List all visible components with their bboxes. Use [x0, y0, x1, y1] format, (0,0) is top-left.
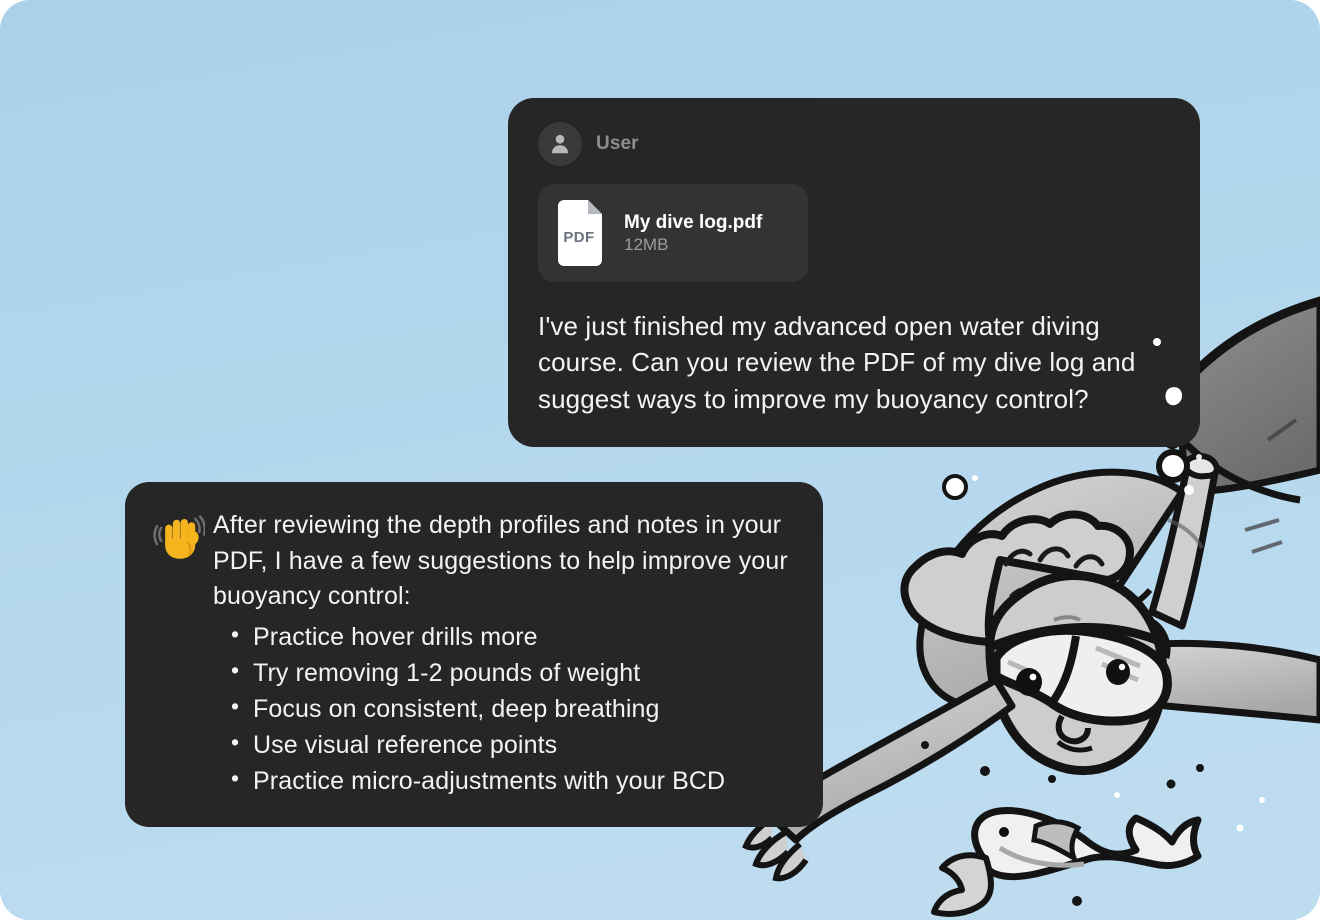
- pdf-attachment-card[interactable]: PDF My dive log.pdf 12MB: [538, 184, 808, 282]
- list-item: Try removing 1-2 pounds of weight: [213, 655, 793, 691]
- air-bubbles: [921, 378, 1265, 906]
- user-message-text: I've just finished my advanced open wate…: [538, 308, 1170, 417]
- user-message-bubble: User PDF My dive log.pdf 12MB I've just …: [508, 98, 1200, 447]
- attachment-file-name: My dive log.pdf: [624, 212, 762, 233]
- svg-text:PDF: PDF: [563, 229, 594, 246]
- attachment-file-size: 12MB: [624, 235, 668, 254]
- user-header: User: [538, 122, 1170, 166]
- person-avatar-icon: [538, 122, 582, 166]
- list-item: Practice micro-adjustments with your BCD: [213, 763, 793, 799]
- pdf-file-icon: PDF: [554, 200, 606, 266]
- list-item: Focus on consistent, deep breathing: [213, 691, 793, 727]
- assistant-suggestion-list: Practice hover drills more Try removing …: [213, 619, 793, 799]
- attachment-meta: My dive log.pdf 12MB: [624, 211, 786, 256]
- assistant-message-bubble: After reviewing the depth profiles and n…: [125, 482, 823, 827]
- page-canvas: User PDF My dive log.pdf 12MB I've just …: [0, 0, 1320, 920]
- fish-figure: [934, 811, 1198, 914]
- waving-hand-emoji: [153, 510, 209, 562]
- user-name-label: User: [596, 133, 639, 155]
- list-item: Practice hover drills more: [213, 619, 793, 655]
- list-item: Use visual reference points: [213, 727, 793, 763]
- assistant-intro-text: After reviewing the depth profiles and n…: [213, 508, 793, 615]
